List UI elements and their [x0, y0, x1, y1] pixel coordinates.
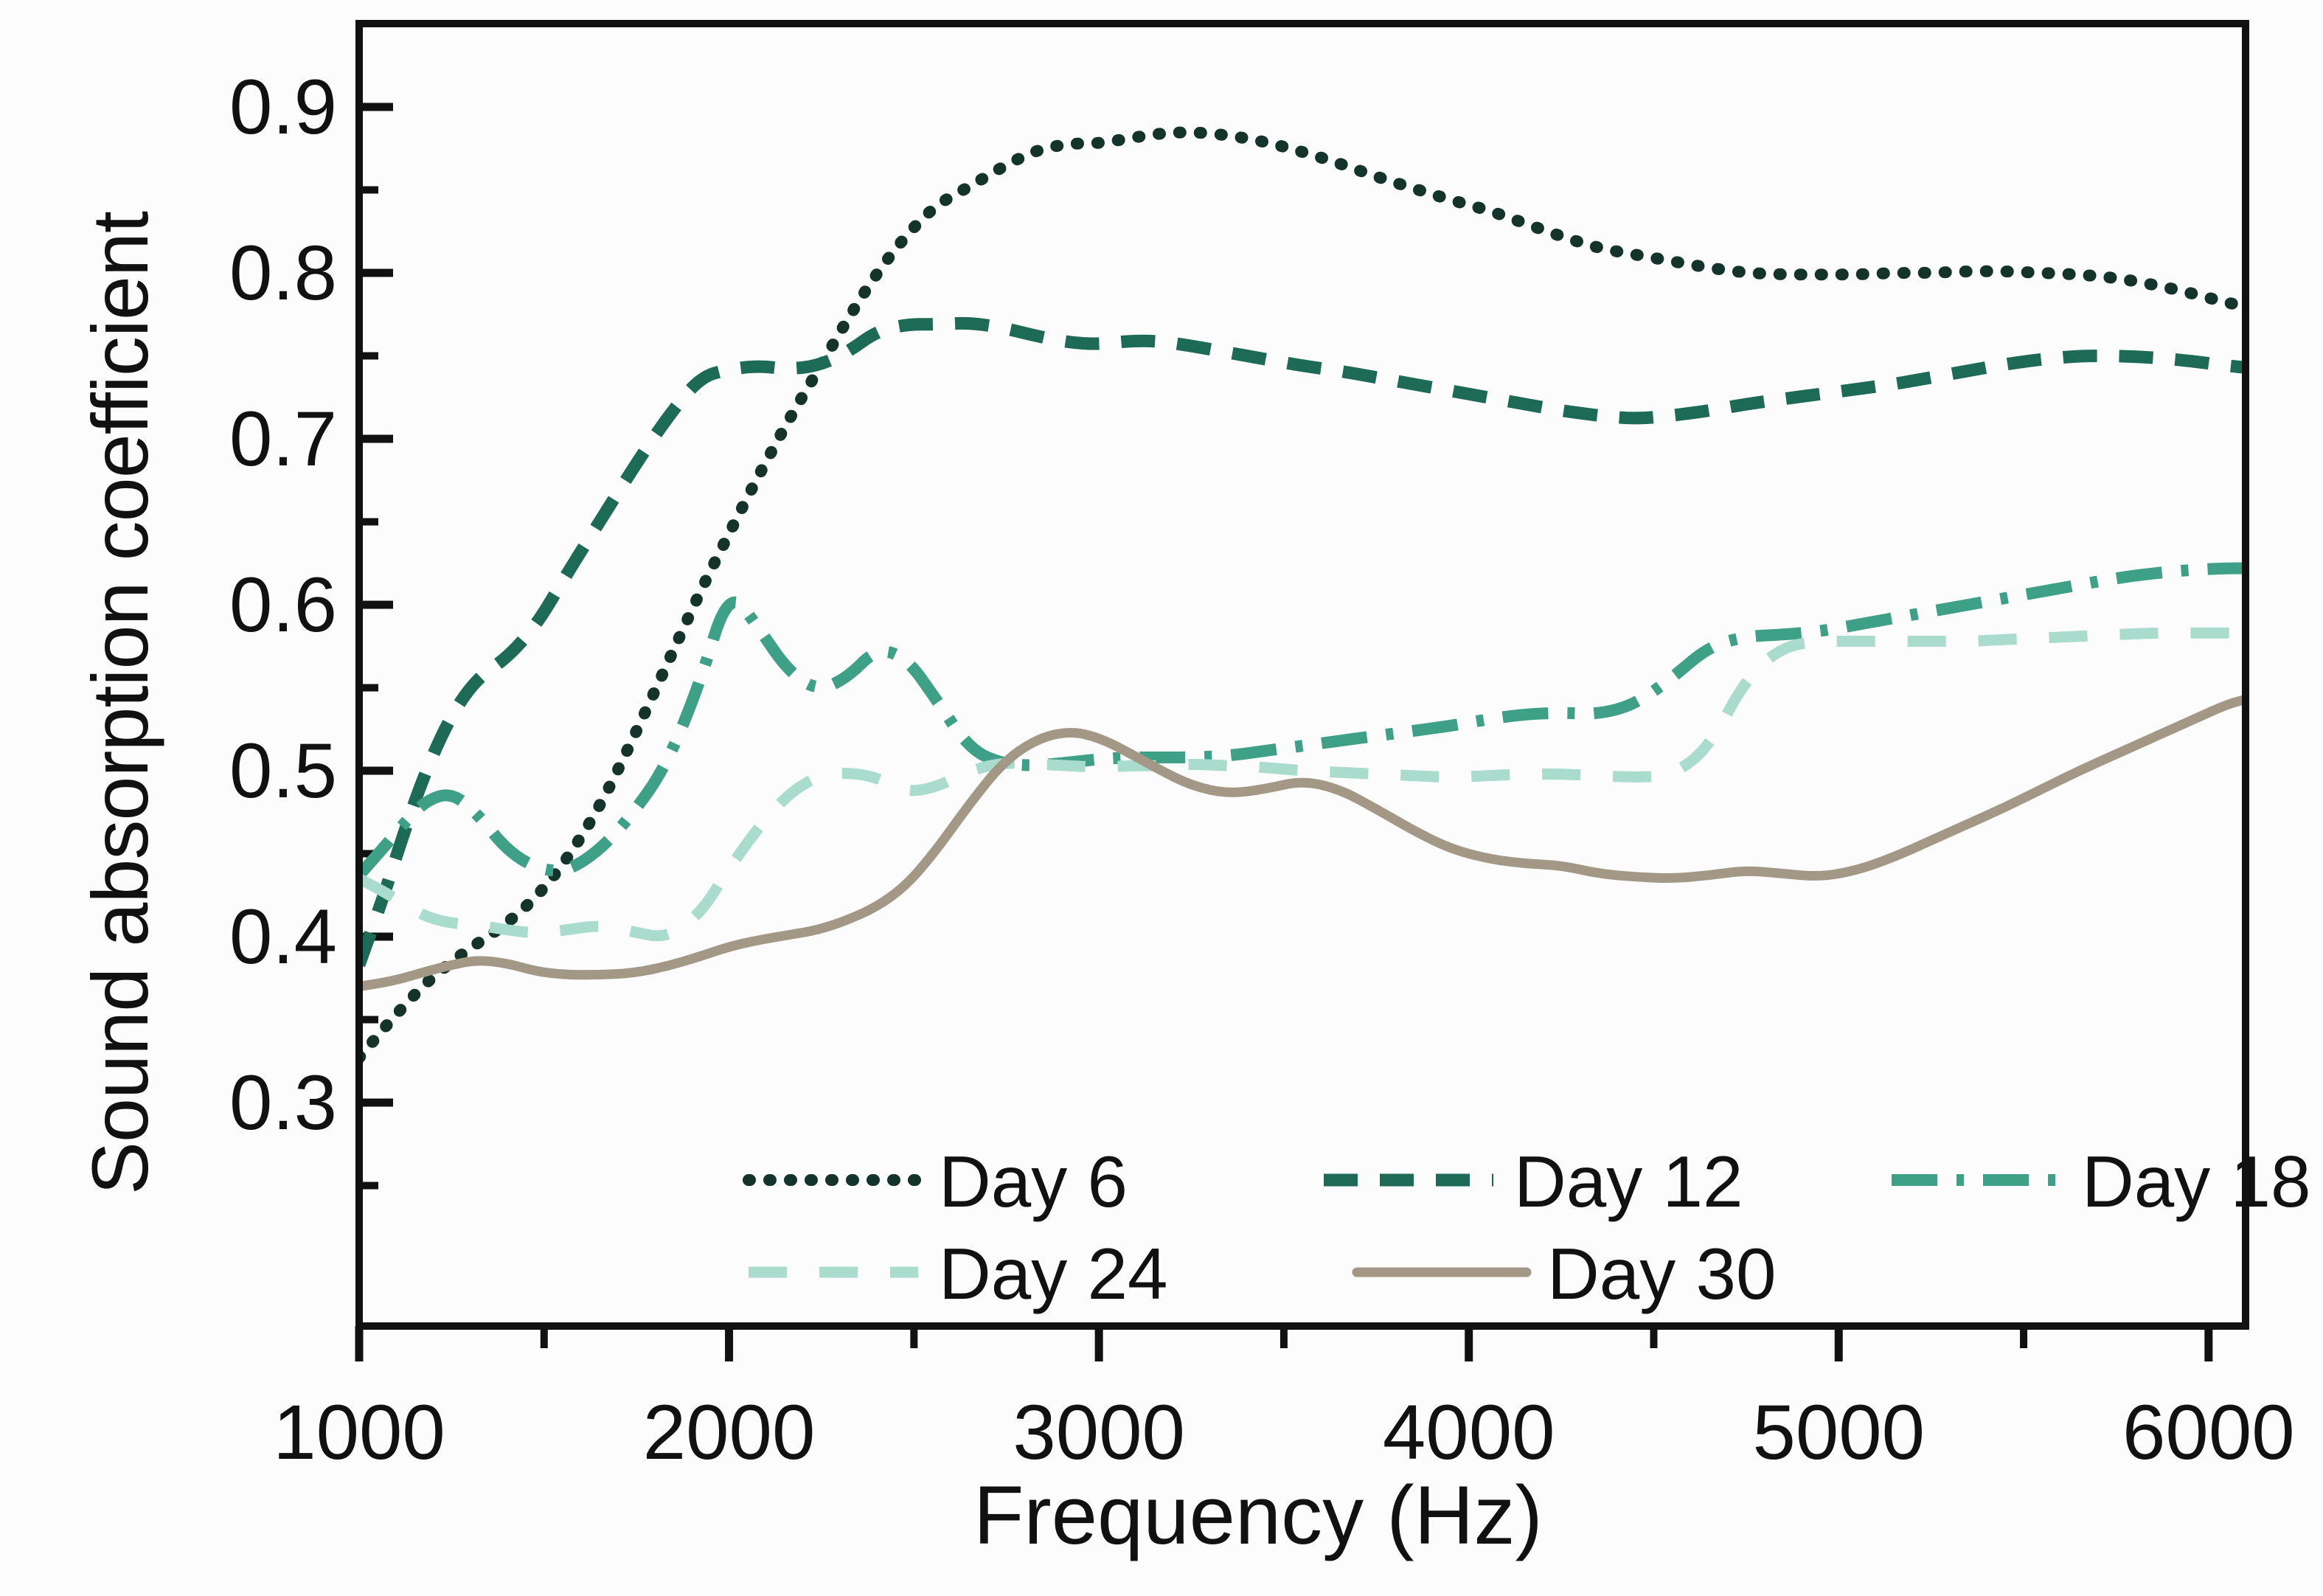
x-tick-label: 5000: [1752, 1389, 1925, 1476]
y-tick-label: 0.4: [229, 894, 337, 980]
y-tick-label: 0.3: [229, 1060, 337, 1146]
series-line-day-12: [359, 323, 2246, 965]
legend-label-day-18: Day 18: [2082, 1141, 2311, 1222]
y-tick-label: 0.6: [229, 562, 337, 648]
plot-frame: [359, 24, 2246, 1326]
y-tick-label: 0.7: [229, 396, 337, 482]
x-axis-title: Frequency (Hz): [973, 1468, 1543, 1563]
chart-svg: 0.30.40.50.60.70.80.91000200030004000500…: [0, 0, 2323, 1596]
y-axis-title: Sound absorption coefficient: [74, 212, 166, 1195]
x-tick-label: 1000: [273, 1389, 445, 1476]
series-line-day-6: [359, 133, 2246, 1058]
series-layer: [359, 133, 2246, 1058]
legend-label-day-30: Day 30: [1547, 1233, 1777, 1314]
y-tick-label: 0.5: [229, 728, 337, 814]
figure: 0.30.40.50.60.70.80.91000200030004000500…: [0, 0, 2323, 1596]
legend-label-day-12: Day 12: [1514, 1141, 1743, 1222]
y-tick-label: 0.8: [229, 230, 337, 316]
legend: Day 6Day 12Day 18Day 24Day 30: [749, 1141, 2311, 1314]
x-tick-label: 4000: [1383, 1389, 1555, 1476]
legend-label-day-24: Day 24: [939, 1233, 1168, 1314]
x-tick-label: 6000: [2122, 1389, 2295, 1476]
y-tick-label: 0.9: [229, 64, 337, 150]
x-tick-label: 3000: [1013, 1389, 1185, 1476]
legend-label-day-6: Day 6: [939, 1141, 1128, 1222]
x-tick-label: 2000: [643, 1389, 816, 1476]
